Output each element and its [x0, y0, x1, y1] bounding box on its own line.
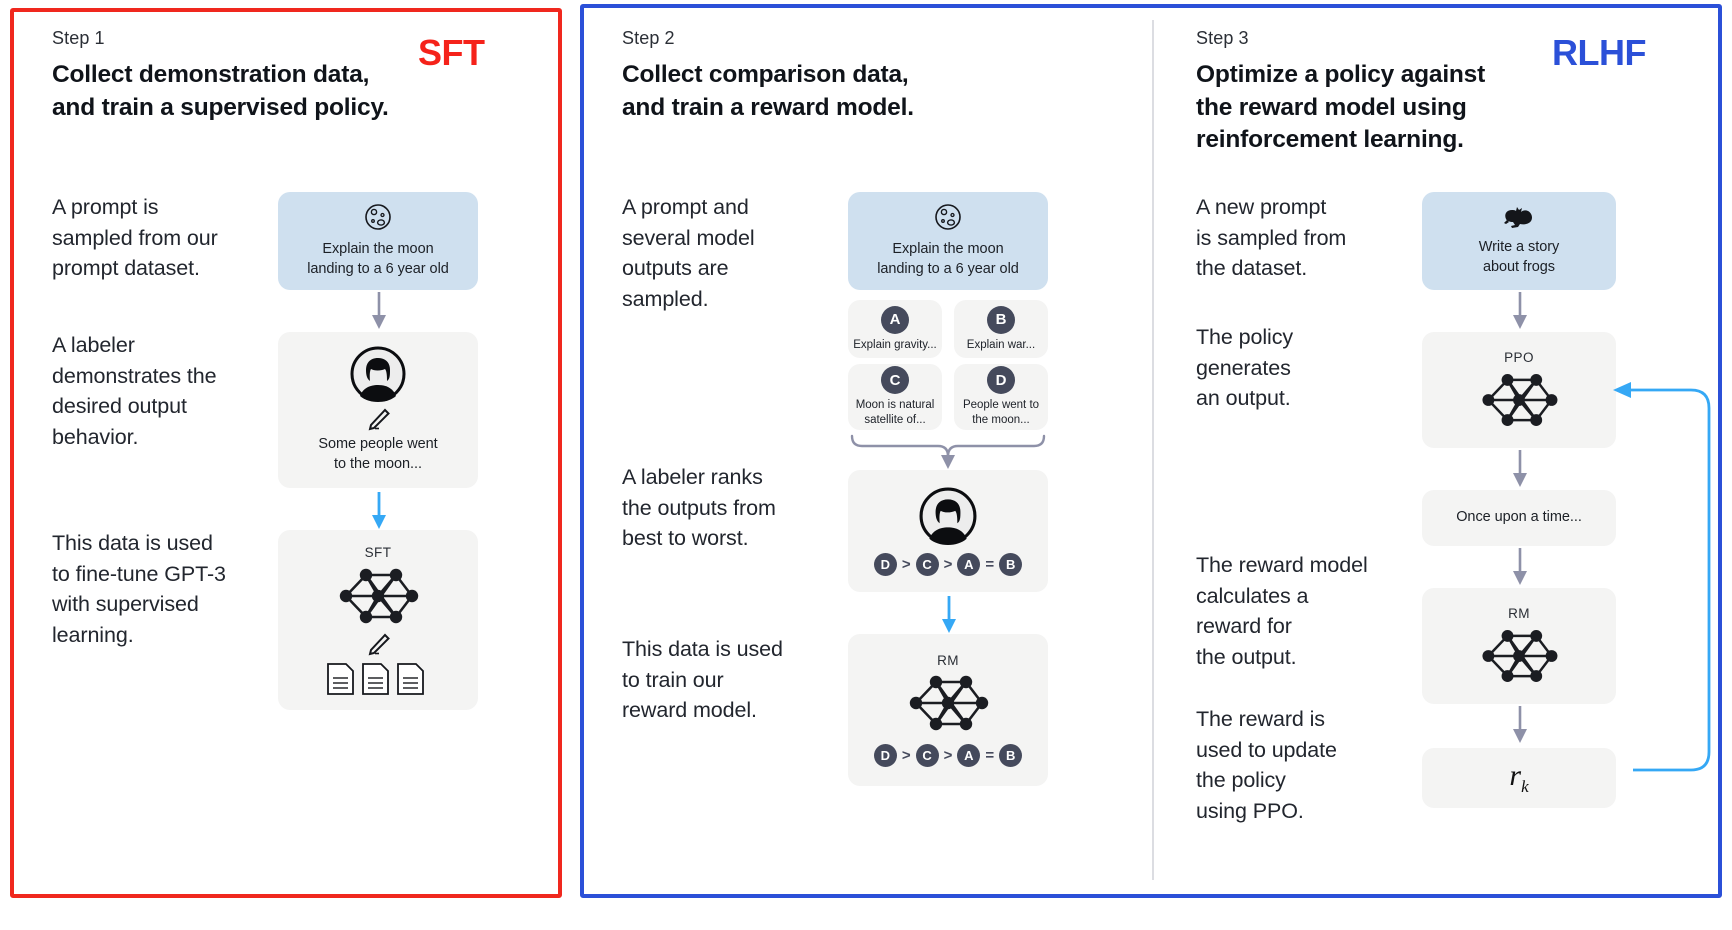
sft-badge: SFT: [418, 32, 485, 74]
narration-3-3: The reward model calculates a reward for…: [1196, 550, 1368, 672]
sft-card-caption: SFT: [365, 545, 392, 560]
documents-icon: [325, 662, 431, 696]
rank-op-3: =: [985, 556, 994, 573]
rank-pill-3: A: [957, 744, 980, 767]
rank-pill-4: B: [999, 744, 1022, 767]
narration-3-2: The policy generates an output.: [1196, 322, 1293, 414]
policy-output-card: Once upon a time...: [1422, 490, 1616, 546]
rlhf-badge: RLHF: [1552, 32, 1646, 74]
rank-op-2: >: [944, 747, 953, 764]
narration-1-1: A prompt is sampled from our prompt data…: [52, 192, 218, 284]
moon-icon: [363, 202, 393, 232]
narration-3-4: The reward is used to update the policy …: [1196, 704, 1337, 826]
brace-arrow-to-labeler: [848, 432, 1048, 470]
rm-model-card-2: RM: [848, 634, 1048, 786]
ppo-card-caption: PPO: [1504, 350, 1534, 365]
rlhf-diagram: Step 1 Collect demonstration data, and t…: [0, 0, 1732, 930]
labeler-rank-card: D > C > A = B: [848, 470, 1048, 592]
output-card-b: B Explain war...: [954, 300, 1048, 358]
column-step-3: Step 3 Optimize a policy against the rew…: [1154, 0, 1722, 930]
rm-model-card-3: RM: [1422, 588, 1616, 704]
rm-card-caption-2: RM: [937, 653, 959, 668]
narration-1-2: A labeler demonstrates the desired outpu…: [52, 330, 217, 452]
output-badge-a: A: [881, 306, 909, 334]
labeler-icon: [350, 346, 406, 402]
output-badge-c: C: [881, 366, 909, 394]
ppo-model-card: PPO: [1422, 332, 1616, 448]
prompt-card-3-text: Write a story about frogs: [1479, 238, 1559, 277]
arrow-rm-to-reward: [1509, 706, 1531, 744]
rank-pill-2: C: [916, 744, 939, 767]
rm-card-caption-3: RM: [1508, 606, 1530, 621]
neural-network-icon: [902, 672, 994, 734]
rank-op-1: >: [902, 747, 911, 764]
pencil-icon: [365, 408, 391, 430]
rank-pill-3: A: [957, 553, 980, 576]
moon-icon: [933, 202, 963, 232]
step-title-1: Collect demonstration data, and train a …: [52, 59, 562, 124]
step-label-1: Step 1: [52, 28, 562, 49]
arrow-ppo-to-output: [1509, 450, 1531, 488]
prompt-card-2: Explain the moon landing to a 6 year old: [848, 192, 1048, 290]
narration-2-1: A prompt and several model outputs are s…: [622, 192, 755, 314]
rank-pill-4: B: [999, 553, 1022, 576]
labeler-icon: [919, 487, 977, 545]
neural-network-icon: [1475, 626, 1563, 686]
narration-2-3: This data is used to train our reward mo…: [622, 634, 783, 726]
reward-value-card: rk: [1422, 748, 1616, 808]
arrow-prompt-to-labeler-1: [368, 292, 390, 330]
step-title-2: Collect comparison data, and train a rew…: [622, 59, 1152, 124]
rank-op-1: >: [902, 556, 911, 573]
sft-model-card: SFT: [278, 530, 478, 710]
output-card-a-text: Explain gravity...: [853, 338, 937, 353]
step-label-2: Step 2: [622, 28, 1152, 49]
pencil-icon: [365, 633, 391, 655]
prompt-card-3: Write a story about frogs: [1422, 192, 1616, 290]
rank-pill-1: D: [874, 744, 897, 767]
neural-network-icon: [1475, 370, 1563, 430]
prompt-card-2-text: Explain the moon landing to a 6 year old: [877, 240, 1019, 279]
output-card-c: C Moon is natural satellite of...: [848, 364, 942, 430]
output-card-d-text: People went to the moon...: [963, 398, 1039, 428]
labeler-card-1: Some people went to the moon...: [278, 332, 478, 488]
neural-network-icon: [332, 565, 424, 627]
policy-output-text: Once upon a time...: [1456, 508, 1582, 528]
labeler-card-1-text: Some people went to the moon...: [318, 435, 437, 474]
rank-pill-2: C: [916, 553, 939, 576]
output-card-a: A Explain gravity...: [848, 300, 942, 358]
arrow-labeler-to-sft: [368, 492, 390, 530]
output-card-c-text: Moon is natural satellite of...: [856, 398, 935, 428]
output-badge-d: D: [987, 366, 1015, 394]
rank-op-2: >: [944, 556, 953, 573]
ranking-row-labeler: D > C > A = B: [874, 553, 1022, 576]
ranking-row-rm: D > C > A = B: [874, 744, 1022, 767]
feedback-loop-arrow: [1609, 370, 1727, 790]
output-badge-b: B: [987, 306, 1015, 334]
narration-2-2: A labeler ranks the outputs from best to…: [622, 462, 776, 554]
prompt-card-1-text: Explain the moon landing to a 6 year old: [307, 240, 449, 279]
output-card-b-text: Explain war...: [967, 338, 1035, 353]
rank-pill-1: D: [874, 553, 897, 576]
frog-icon: [1502, 204, 1536, 230]
arrow-prompt-to-ppo: [1509, 292, 1531, 330]
reward-symbol: rk: [1509, 759, 1528, 797]
rank-op-3: =: [985, 747, 994, 764]
arrow-labeler-to-rm: [938, 596, 960, 634]
column-step-2: Step 2 Collect comparison data, and trai…: [580, 0, 1152, 930]
narration-1-3: This data is used to fine-tune GPT-3 wit…: [52, 528, 226, 650]
arrow-output-to-rm: [1509, 548, 1531, 586]
column-step-1: Step 1 Collect demonstration data, and t…: [10, 0, 562, 930]
output-card-d: D People went to the moon...: [954, 364, 1048, 430]
narration-3-1: A new prompt is sampled from the dataset…: [1196, 192, 1346, 284]
prompt-card-1: Explain the moon landing to a 6 year old: [278, 192, 478, 290]
